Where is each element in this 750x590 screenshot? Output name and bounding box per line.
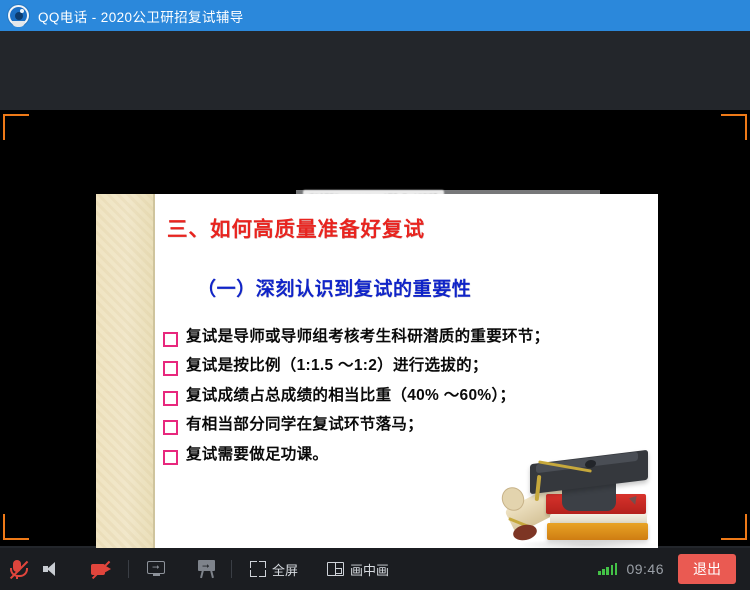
slide-content: 三、如何高质量准备好复试 （一）深刻认识到复试的重要性 复试是导师或导师组考核考… (155, 194, 658, 590)
qq-video-call-window: QQ电话 - 2020公卫研招复试辅导 退出全屏显示 00:04:53 小程序 … (0, 0, 750, 590)
bullet-text: 复试成绩占总成绩的相当比重（40% ～60%）； (186, 386, 515, 407)
bullet-text: 复试需要做足功课。 (186, 445, 328, 466)
bullet-square-icon (163, 361, 178, 376)
window-titlebar: QQ电话 - 2020公卫研招复试辅导 (0, 0, 750, 31)
microphone-muted-icon (9, 559, 25, 579)
bullet-square-icon (163, 332, 178, 347)
exit-button[interactable]: 退出 (678, 554, 736, 584)
whiteboard-button[interactable]: ➞ (175, 548, 225, 590)
toolbar-divider (128, 560, 129, 578)
call-stage: 退出全屏显示 00:04:53 小程序 - 第41人正在观看 三、如何高质量准备… (0, 31, 750, 548)
list-item: 复试是按比例（1:1.5 ～1:2）进行选拔的； (163, 356, 658, 377)
fullscreen-icon (250, 561, 266, 577)
bullet-square-icon (163, 420, 178, 435)
screen-share-button[interactable]: ➞ (135, 548, 175, 590)
slide-subheading: （一）深刻认识到复试的重要性 (197, 274, 471, 301)
screen-share-icon: ➞ (147, 561, 166, 578)
bullet-text: 复试是按比例（1:1.5 ～1:2）进行选拔的； (186, 356, 488, 377)
fullscreen-button[interactable]: 全屏 (238, 548, 307, 590)
list-item: 复试成绩占总成绩的相当比重（40% ～60%）； (163, 386, 658, 407)
call-duration-clock: 09:46 (626, 561, 664, 577)
speaker-icon (43, 561, 60, 577)
slide-heading: 三、如何高质量准备好复试 (167, 212, 425, 242)
picture-in-picture-label: 画中画 (350, 560, 389, 579)
speaker-toggle-button[interactable] (34, 548, 69, 590)
mic-toggle-button[interactable] (0, 548, 34, 590)
list-item: 有相当部分同学在复试环节落马； (163, 415, 658, 436)
picture-in-picture-icon (327, 562, 344, 576)
shared-screen-video[interactable]: 退出全屏显示 00:04:53 小程序 - 第41人正在观看 三、如何高质量准备… (0, 110, 750, 546)
bullet-square-icon (163, 391, 178, 406)
camera-off-icon (91, 562, 113, 577)
camera-toggle-button[interactable] (69, 548, 122, 590)
fullscreen-label: 全屏 (272, 560, 298, 579)
whiteboard-easel-icon: ➞ (197, 560, 216, 578)
toolbar-divider (231, 560, 232, 578)
presentation-slide: 三、如何高质量准备好复试 （一）深刻认识到复试的重要性 复试是导师或导师组考核考… (96, 194, 658, 590)
picture-in-picture-button[interactable]: 画中画 (307, 548, 398, 590)
call-control-bar: ➞ ➞ 全屏 画中画 09:46 退出 (0, 548, 750, 590)
signal-bars-icon (598, 563, 617, 575)
bullet-text: 复试是导师或导师组考核考生科研潜质的重要环节； (186, 327, 549, 348)
qq-video-call-icon (8, 5, 29, 26)
list-item: 复试是导师或导师组考核考生科研潜质的重要环节； (163, 327, 658, 348)
bullet-text: 有相当部分同学在复试环节落马； (186, 415, 423, 436)
slide-decorative-band (96, 194, 153, 590)
window-title: QQ电话 - 2020公卫研招复试辅导 (38, 6, 244, 26)
bullet-square-icon (163, 450, 178, 465)
